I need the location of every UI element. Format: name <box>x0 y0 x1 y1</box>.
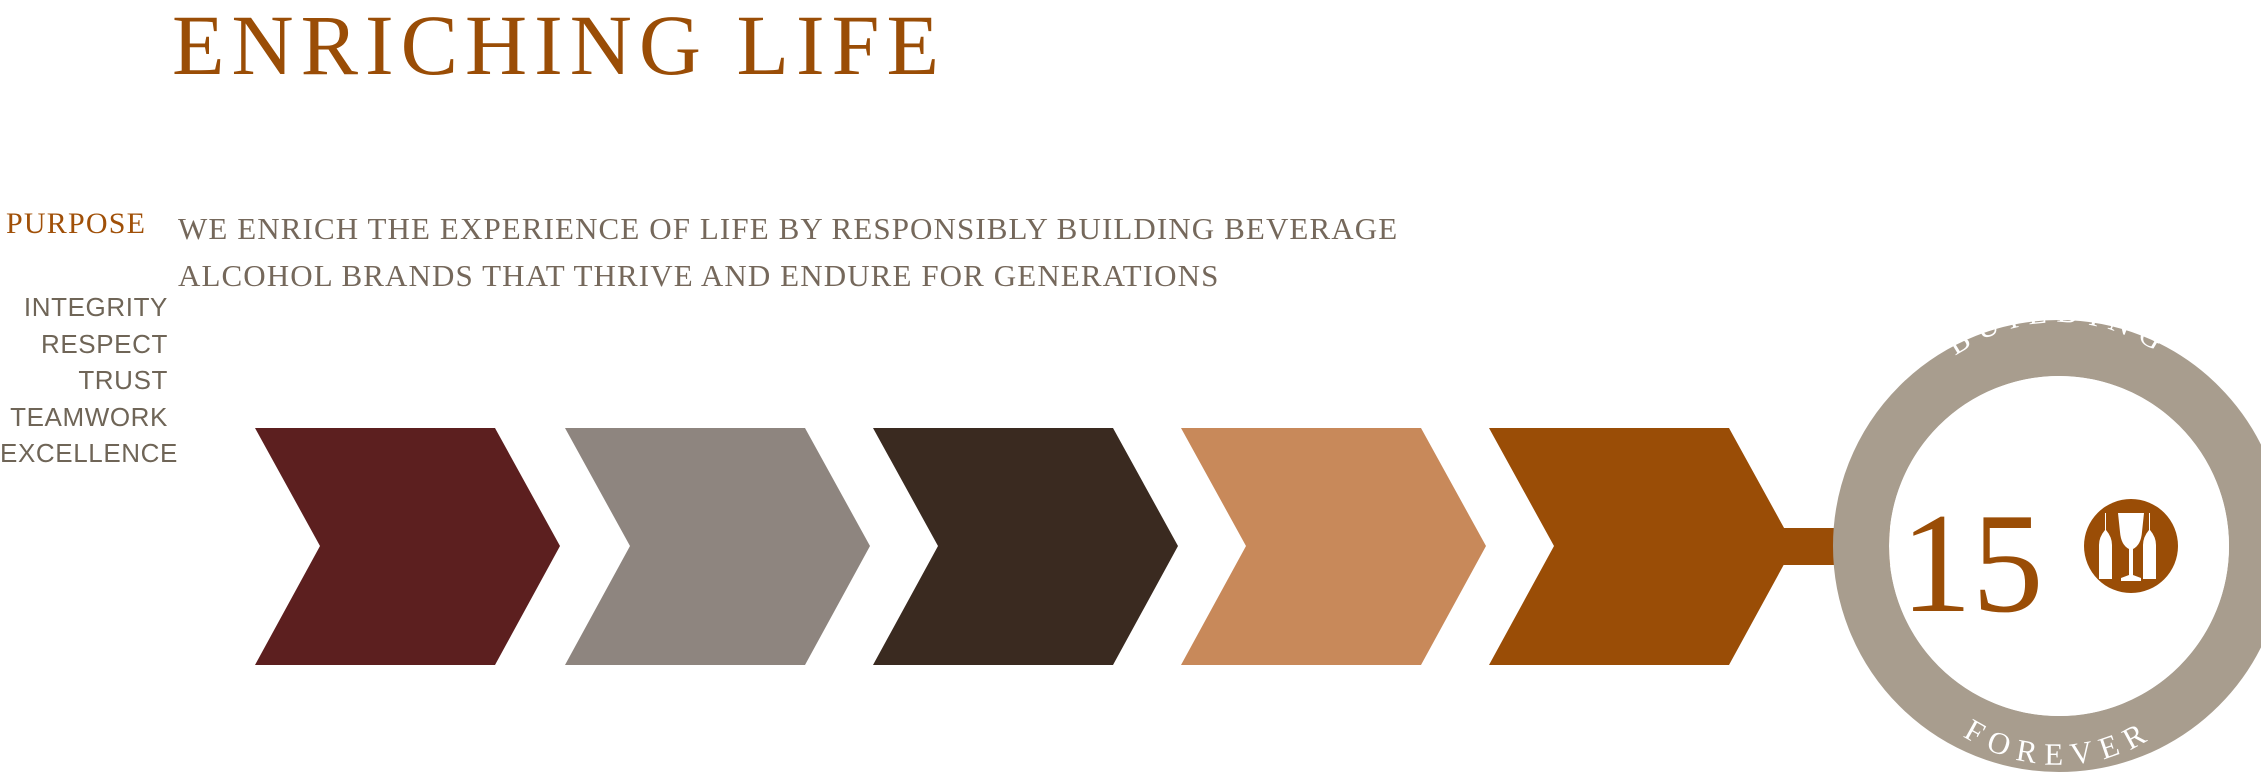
chevron-label-be-courageous: BE COURAGEOUS <box>447 345 602 411</box>
badge-150-forever: BUILDING FOREVER 15 <box>1861 294 2257 772</box>
chevron-line-1: BE <box>1068 345 1205 378</box>
chevron-be-curious <box>255 428 560 665</box>
badge-bottom-text: FOREVER <box>1959 712 2159 772</box>
chevron-line-1: BE <box>653 345 835 378</box>
bottle-glass-bottle-icon <box>2084 499 2178 593</box>
purpose-line-2: ALCOHOL BRANDS THAT THRIVE AND ENDURE FO… <box>178 252 1398 299</box>
chevron-line-2: A CHAMPION <box>1068 378 1205 411</box>
chevron-label-be-curious: BE CURIOUS <box>236 345 335 411</box>
connector-arrow <box>1700 505 1960 588</box>
chevron-be-collaborative <box>873 428 1178 665</box>
chevron-line-2: COLLABORATIVE <box>653 378 835 411</box>
chevron-label-be-a-champion: BE A CHAMPION <box>1068 345 1205 411</box>
badge-top-text: BUILDING <box>1940 294 2177 362</box>
chevron-line-2: COURAGEOUS <box>447 378 602 411</box>
page-title: ENRICHING LIFE <box>172 0 946 93</box>
badge-number: 15 <box>1901 484 2044 642</box>
chevron-be-a-champion <box>1489 428 1794 665</box>
chevron-line-1: BE <box>447 345 602 378</box>
value-item-trust: TRUST <box>0 362 168 399</box>
chevron-line-2: CURIOUS <box>236 378 335 411</box>
values-list: INTEGRITY RESPECT TRUST TEAMWORK EXCELLE… <box>0 289 168 472</box>
value-item-excellence: EXCELLENCE <box>0 435 168 472</box>
purpose-line-1: WE ENRICH THE EXPERIENCE OF LIFE BY RESP… <box>178 205 1398 252</box>
chevron-line-1: BE <box>236 345 335 378</box>
purpose-statement: WE ENRICH THE EXPERIENCE OF LIFE BY RESP… <box>178 205 1398 299</box>
chevron-label-be-creative: BE CREATIVE <box>857 345 964 411</box>
value-item-respect: RESPECT <box>0 326 168 363</box>
value-item-integrity: INTEGRITY <box>0 289 168 326</box>
chevron-be-courageous <box>565 428 870 665</box>
chevron-label-be-collaborative: BE COLLABORATIVE <box>653 345 835 411</box>
chevron-line-1: BE <box>857 345 964 378</box>
chevron-line-2: CREATIVE <box>857 378 964 411</box>
purpose-label: PURPOSE <box>6 207 146 241</box>
chevron-be-creative <box>1181 428 1486 665</box>
value-item-teamwork: TEAMWORK <box>0 399 168 436</box>
